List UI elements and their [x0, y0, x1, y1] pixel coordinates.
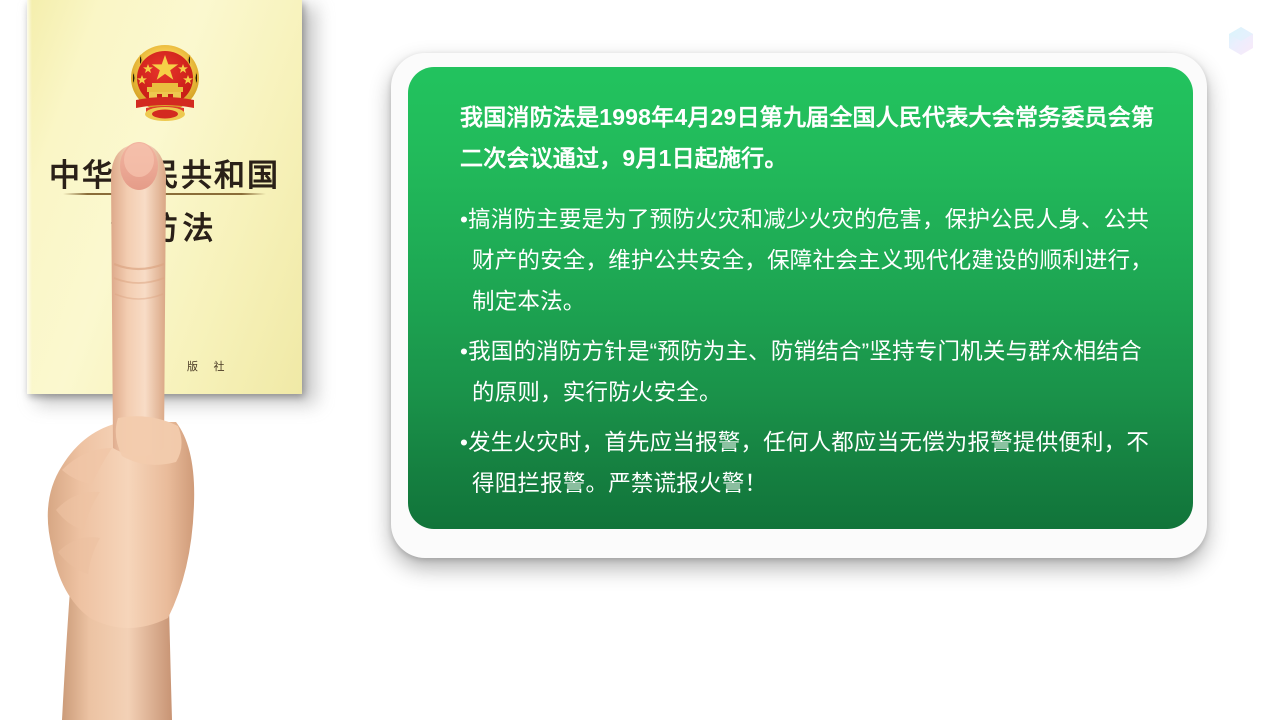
- book-publisher-label: 版 社: [187, 358, 231, 374]
- book-cover: 中华人民共和国 消防法 版 社: [27, 0, 302, 394]
- book-title-sub: 消防法: [27, 203, 302, 248]
- slide-stage: 中华人民共和国 消防法 版 社: [0, 0, 1280, 720]
- bullet-paragraph-3: •发生火灾时，首先应当报警，任何人都应当无偿为报警提供便利，不得阻拦报警。严禁谎…: [460, 422, 1161, 504]
- book-title-main: 中华人民共和国: [27, 150, 302, 195]
- book-photo-block: 中华人民共和国 消防法 版 社: [0, 0, 360, 720]
- bullet-paragraph-1: •搞消防主要是为了预防火灾和减少火灾的危害，保护公民人身、公共财产的安全，维护公…: [460, 199, 1161, 322]
- hexagon-cube-icon: [1228, 26, 1254, 56]
- panel-heading: 我国消防法是1998年4月29日第九届全国人民代表大会常务委员会第二次会议通过，…: [460, 97, 1161, 179]
- bullet-paragraph-2: •我国的消防方针是“预防为主、防销结合”坚持专门机关与群众相结合的原则，实行防火…: [460, 331, 1161, 413]
- china-national-emblem-icon: [122, 38, 208, 126]
- book-title-divider: [63, 193, 266, 195]
- content-panel: 我国消防法是1998年4月29日第九届全国人民代表大会常务委员会第二次会议通过，…: [408, 67, 1193, 529]
